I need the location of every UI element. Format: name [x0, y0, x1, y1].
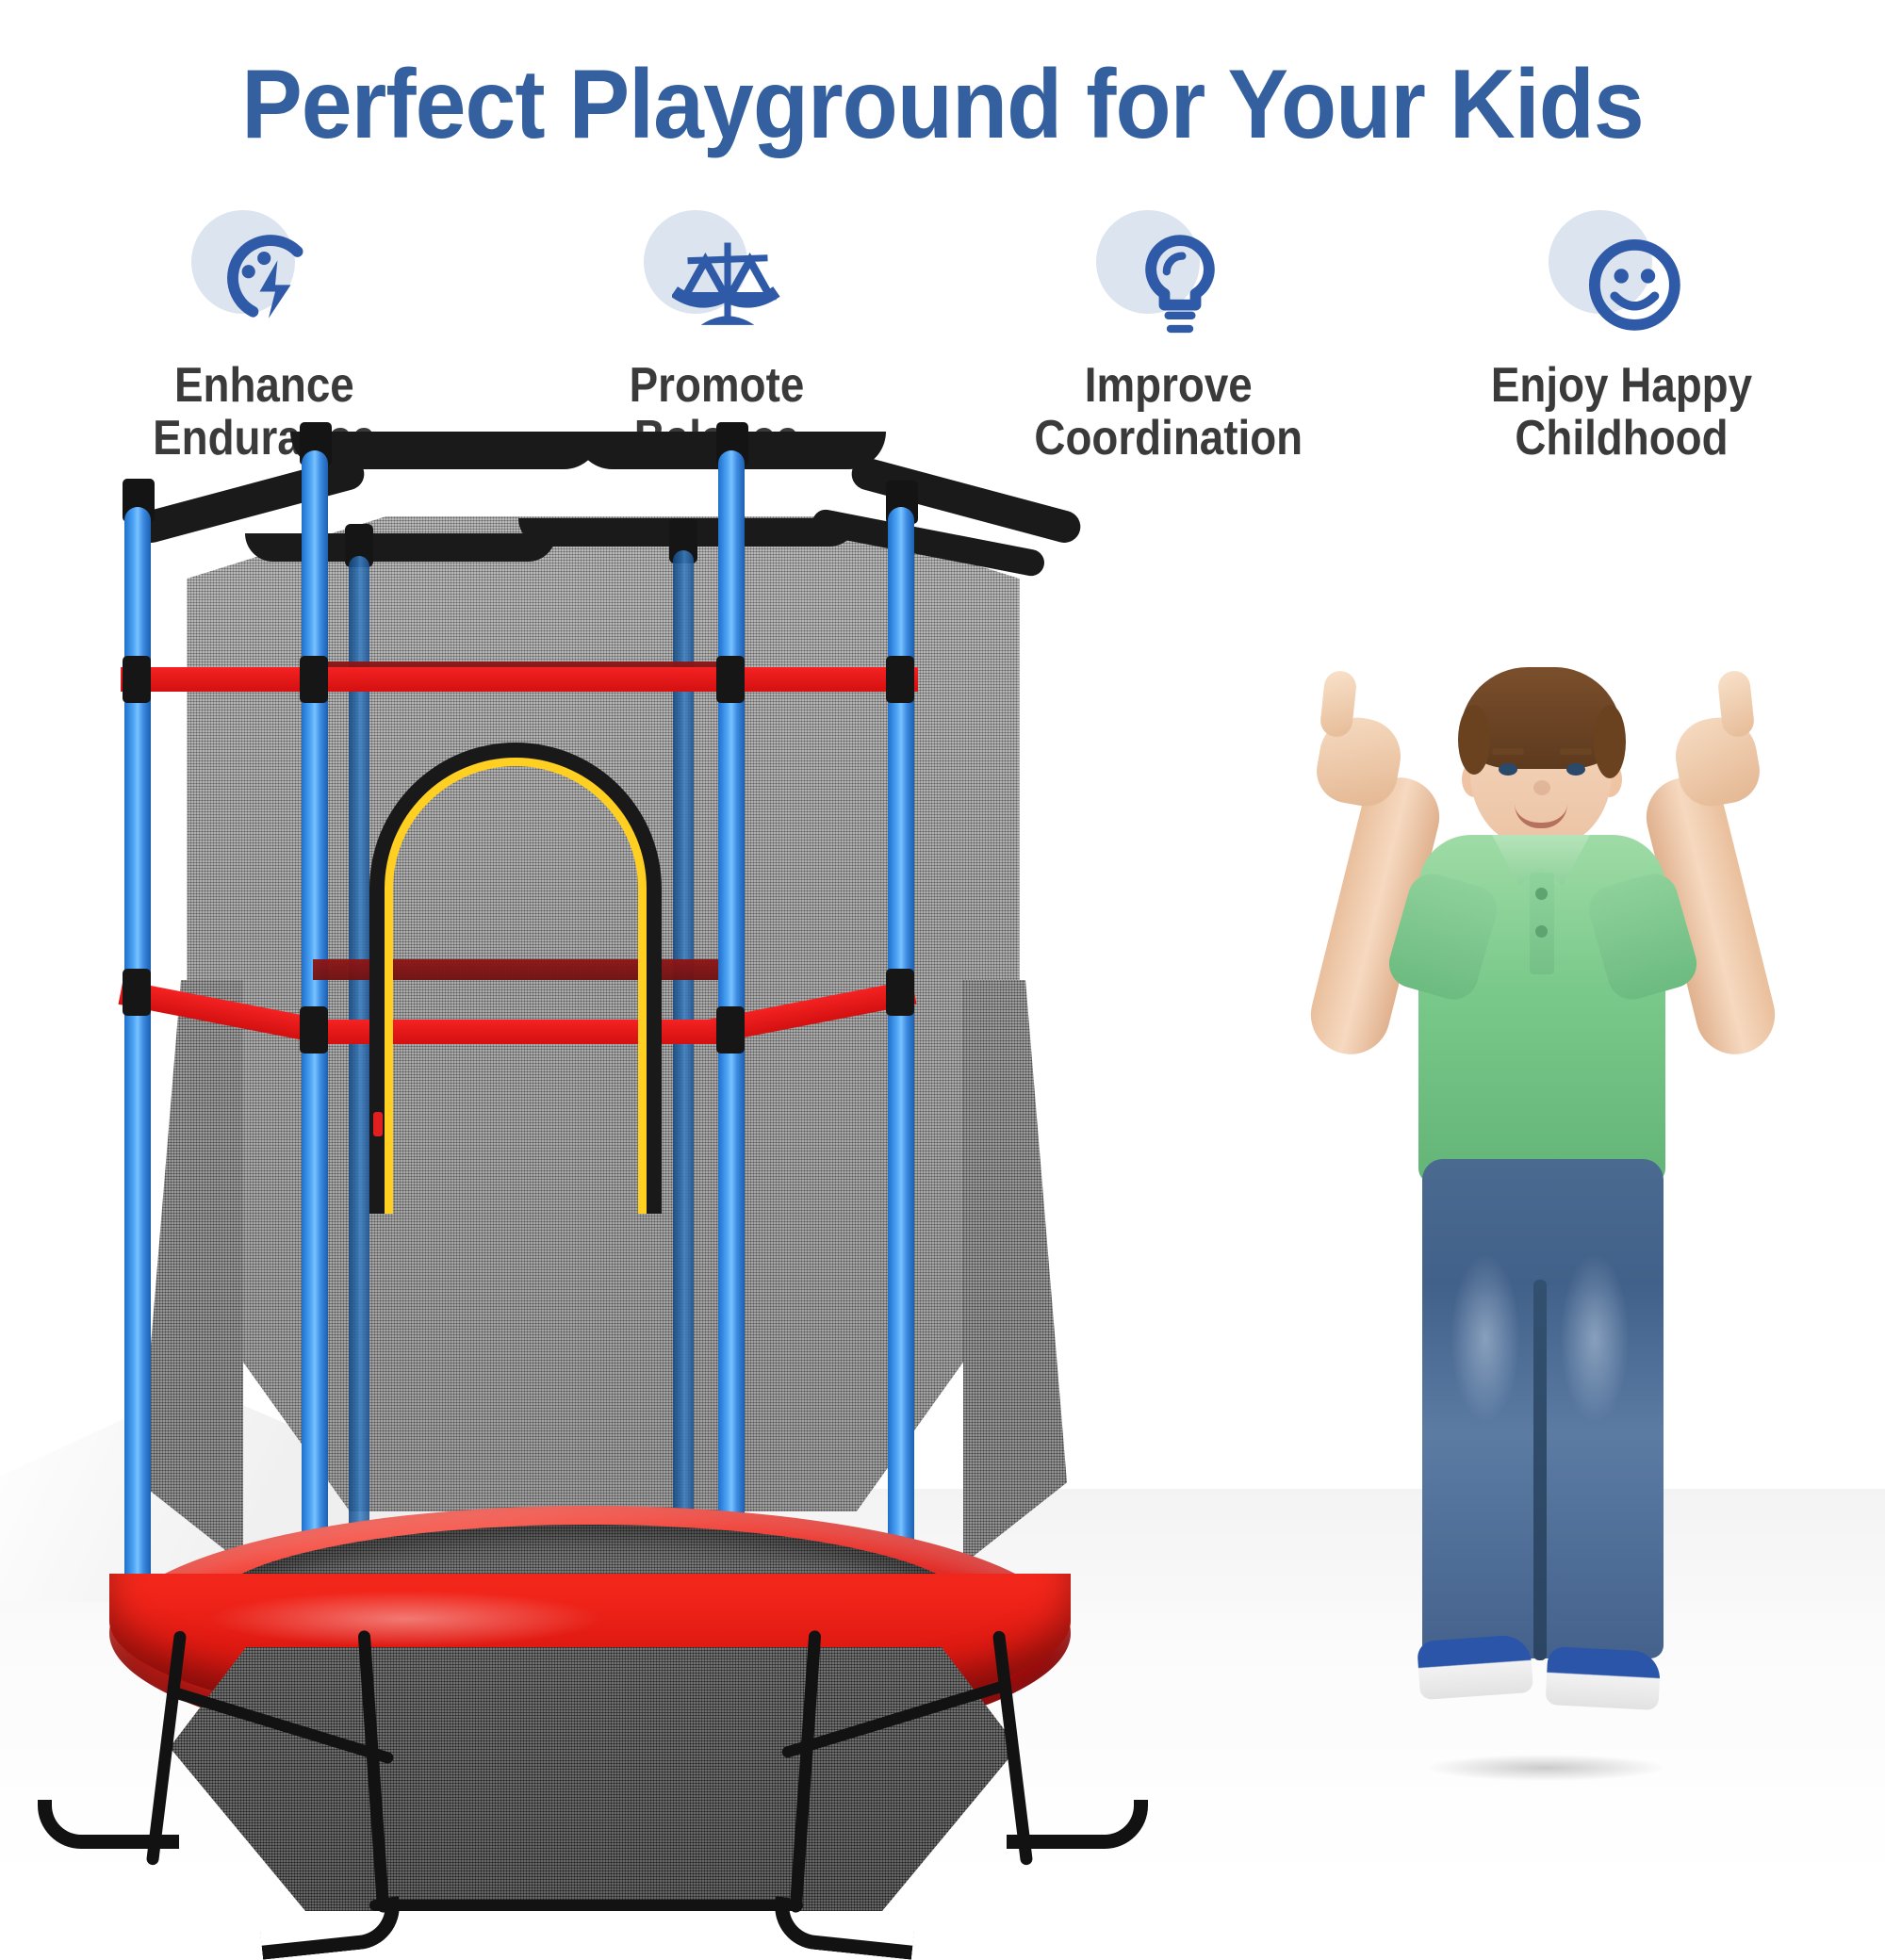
trampoline-product: [66, 490, 1122, 1866]
hair-side-right: [1594, 705, 1626, 778]
strap-clip: [300, 656, 328, 703]
entry-door-yellow-trim: [385, 758, 647, 1214]
child-shadow: [1428, 1755, 1664, 1781]
strap-clip: [886, 656, 914, 703]
enclosure-net-left-panel: [139, 980, 243, 1564]
enclosure-pole-front: [718, 450, 745, 1666]
right-sneaker: [1545, 1646, 1661, 1710]
strap-clip: [886, 969, 914, 1016]
shirt-button: [1535, 925, 1548, 938]
strap-clip: [300, 1006, 328, 1053]
strap-clip: [123, 656, 151, 703]
smiley-face-icon: [1541, 203, 1701, 353]
leg-crossbar: [369, 1900, 803, 1911]
right-eye: [1566, 763, 1585, 776]
strap-clip: [716, 1006, 745, 1053]
jeans-fade: [1560, 1253, 1630, 1423]
feature-line1: Promote: [629, 358, 804, 413]
top-rail-band: [290, 432, 601, 469]
enclosure-pole-front: [302, 450, 328, 1666]
leg-foot: [1007, 1800, 1148, 1849]
jeans-inseam: [1533, 1280, 1547, 1660]
feature-item-coordination: Improve Coordination: [961, 203, 1376, 465]
feature-item-childhood: Enjoy Happy Childhood: [1414, 203, 1828, 465]
shirt-button: [1535, 888, 1548, 900]
balance-scale-icon: [636, 203, 796, 353]
strap-clip: [716, 656, 745, 703]
feature-label-coordination: Improve Coordination: [1035, 359, 1303, 465]
product-marketing-banner: Perfect Playground for Your Kids Enhance…: [0, 0, 1885, 1885]
enclosure-pole-rear: [673, 550, 694, 1596]
feature-line2: Coordination: [1035, 411, 1303, 465]
zipper-pull[interactable]: [373, 1112, 383, 1136]
leg-foot: [771, 1896, 917, 1959]
page-title: Perfect Playground for Your Kids: [66, 49, 1819, 161]
hair-side-left: [1458, 705, 1490, 775]
enclosure-net-right-panel: [963, 980, 1067, 1564]
jeans-fade: [1451, 1253, 1520, 1423]
strap-clip: [123, 969, 151, 1016]
nose: [1533, 780, 1550, 795]
left-sneaker: [1417, 1634, 1533, 1700]
feature-line1: Improve: [1085, 358, 1253, 413]
top-rail-band-rear: [245, 533, 556, 562]
feature-label-childhood: Enjoy Happy Childhood: [1490, 359, 1751, 465]
enclosure-pole-rear: [349, 556, 369, 1592]
feature-line2: Childhood: [1515, 411, 1728, 465]
child-giving-thumbs-up: [1277, 650, 1805, 1837]
leg-foot: [38, 1800, 179, 1849]
feature-line1: Enhance: [174, 358, 354, 413]
feature-line1: Enjoy Happy: [1490, 358, 1751, 413]
left-eye: [1499, 763, 1517, 776]
endurance-bolt-icon: [184, 203, 344, 353]
under-skirt-mesh: [170, 1647, 1018, 1911]
lightbulb-icon: [1089, 203, 1249, 353]
leg-foot: [258, 1896, 404, 1959]
pad-highlight: [207, 1591, 603, 1647]
left-eyebrow: [1492, 748, 1524, 755]
upper-strap-front: [121, 667, 918, 692]
feature-item-endurance: Enhance Endurance: [57, 203, 471, 465]
right-eyebrow: [1560, 748, 1592, 755]
